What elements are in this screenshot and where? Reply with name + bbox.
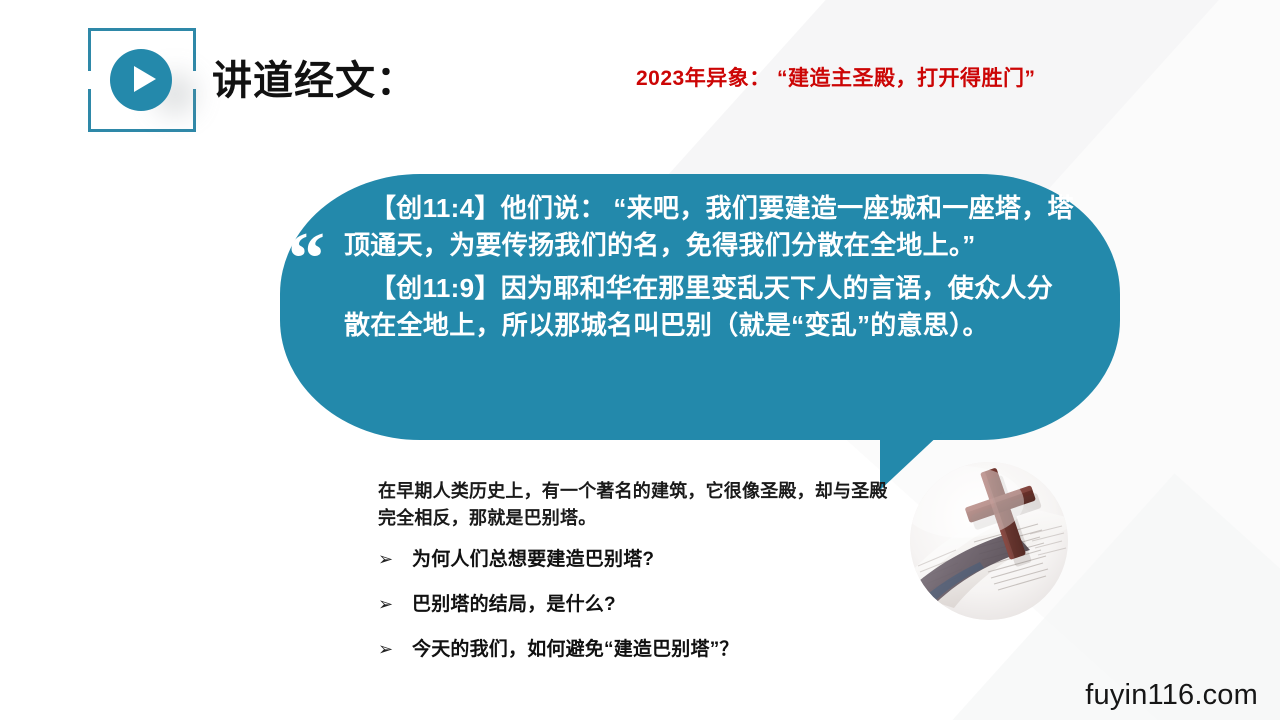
scripture-verse: 【创11:4】他们说： “来吧，我们要建造一座城和一座塔，塔顶通天，为要传扬我们… (344, 190, 1078, 264)
vision-subtitle: 2023年异象： “建造主圣殿，打开得胜门” (636, 62, 1036, 92)
arrow-bullet-icon: ➢ (378, 548, 412, 572)
scripture-verse: 【创11:9】因为耶和华在那里变乱天下人的言语，使众人分散在全地上，所以那城名叫… (344, 270, 1078, 344)
question-label: 巴别塔的结局，是什么? (412, 593, 616, 617)
question-label: 今天的我们，如何避免“建造巴别塔”？ (412, 638, 739, 662)
logo-frame-edge-top (116, 28, 168, 31)
cross-on-bible-photo (910, 462, 1068, 620)
site-watermark: fuyin116.com (1085, 679, 1258, 712)
page-title: 讲道经文： (212, 48, 417, 106)
list-item: ➢ 今天的我们，如何避免“建造巴别塔”？ (378, 638, 918, 662)
arrow-bullet-icon: ➢ (378, 593, 412, 617)
intro-paragraph: 在早期人类历史上，有一个著名的建筑，它很像圣殿，却与圣殿完全相反，那就是巴别塔。 (378, 478, 898, 532)
arrow-bullet-icon: ➢ (378, 638, 412, 662)
list-item: ➢ 为何人们总想要建造巴别塔? (378, 548, 918, 572)
question-list: ➢ 为何人们总想要建造巴别塔? ➢ 巴别塔的结局，是什么? ➢ 今天的我们，如何… (378, 548, 918, 683)
logo-frame-edge-bottom (116, 129, 168, 132)
scripture-text-block: 【创11:4】他们说： “来吧，我们要建造一座城和一座塔，塔顶通天，为要传扬我们… (344, 190, 1078, 344)
logo-circle (110, 49, 172, 111)
scripture-speech-bubble: “ 【创11:4】他们说： “来吧，我们要建造一座城和一座塔，塔顶通天，为要传扬… (280, 174, 1120, 440)
play-button-icon[interactable] (88, 28, 196, 132)
quote-mark-icon: “ (288, 222, 325, 296)
play-triangle-icon (134, 66, 156, 92)
list-item: ➢ 巴别塔的结局，是什么? (378, 593, 918, 617)
question-label: 为何人们总想要建造巴别塔? (412, 548, 654, 572)
slide-canvas: 讲道经文： 2023年异象： “建造主圣殿，打开得胜门” “ 【创11:4】他们… (0, 0, 1280, 720)
